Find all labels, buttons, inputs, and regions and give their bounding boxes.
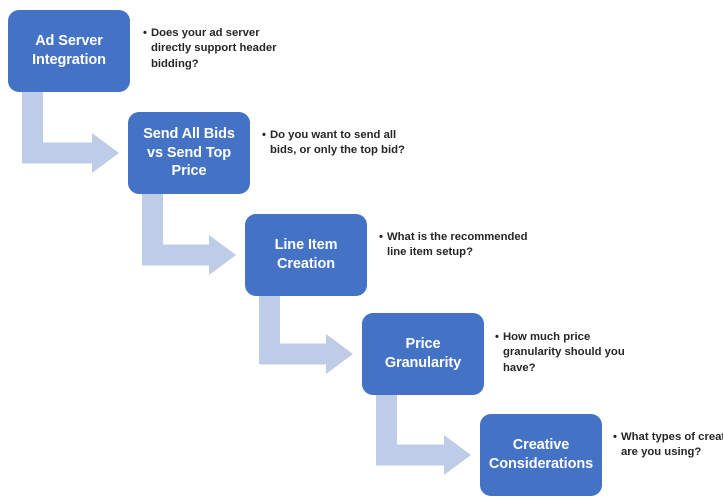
note-creative-considerations: •What types of creatives are you using? — [613, 430, 723, 461]
note-text-ad-server-integration: Does your ad server directly support hea… — [151, 26, 295, 72]
step-box-send-all-bids-vs-send-top-price[interactable]: Send All Bids vs Send Top Price — [128, 112, 250, 194]
note-text-creative-considerations: What types of creatives are you using? — [621, 430, 723, 461]
step-label-price-granularity: Price Granularity — [385, 335, 461, 372]
step-box-creative-considerations[interactable]: Creative Considerations — [480, 414, 602, 496]
note-send-all-bids-vs-send-top-price: •Do you want to send all bids, or only t… — [262, 128, 414, 159]
step-label-line-item-creation: Line Item Creation — [275, 236, 338, 273]
bullet-icon: • — [262, 128, 266, 143]
note-text-send-all-bids-vs-send-top-price: Do you want to send all bids, or only th… — [270, 128, 414, 159]
flowchart-canvas: Ad Server IntegrationSend All Bids vs Se… — [0, 0, 723, 500]
note-ad-server-integration: •Does your ad server directly support he… — [143, 26, 295, 72]
bullet-icon: • — [495, 330, 499, 345]
connector-2 — [142, 192, 236, 275]
connector-3 — [259, 294, 353, 374]
bullet-icon: • — [143, 26, 147, 41]
step-box-price-granularity[interactable]: Price Granularity — [362, 313, 484, 395]
bullet-icon: • — [613, 430, 617, 445]
note-text-price-granularity: How much price granularity should you ha… — [503, 330, 647, 376]
note-line-item-creation: •What is the recommended line item setup… — [379, 230, 531, 261]
step-box-ad-server-integration[interactable]: Ad Server Integration — [8, 10, 130, 92]
bullet-icon: • — [379, 230, 383, 245]
connector-4 — [376, 393, 471, 475]
connector-1 — [22, 90, 119, 173]
step-label-creative-considerations: Creative Considerations — [489, 436, 593, 473]
note-price-granularity: •How much price granularity should you h… — [495, 330, 647, 376]
step-box-line-item-creation[interactable]: Line Item Creation — [245, 214, 367, 296]
step-label-ad-server-integration: Ad Server Integration — [32, 32, 106, 69]
step-label-send-all-bids-vs-send-top-price: Send All Bids vs Send Top Price — [143, 125, 235, 181]
note-text-line-item-creation: What is the recommended line item setup? — [387, 230, 531, 261]
